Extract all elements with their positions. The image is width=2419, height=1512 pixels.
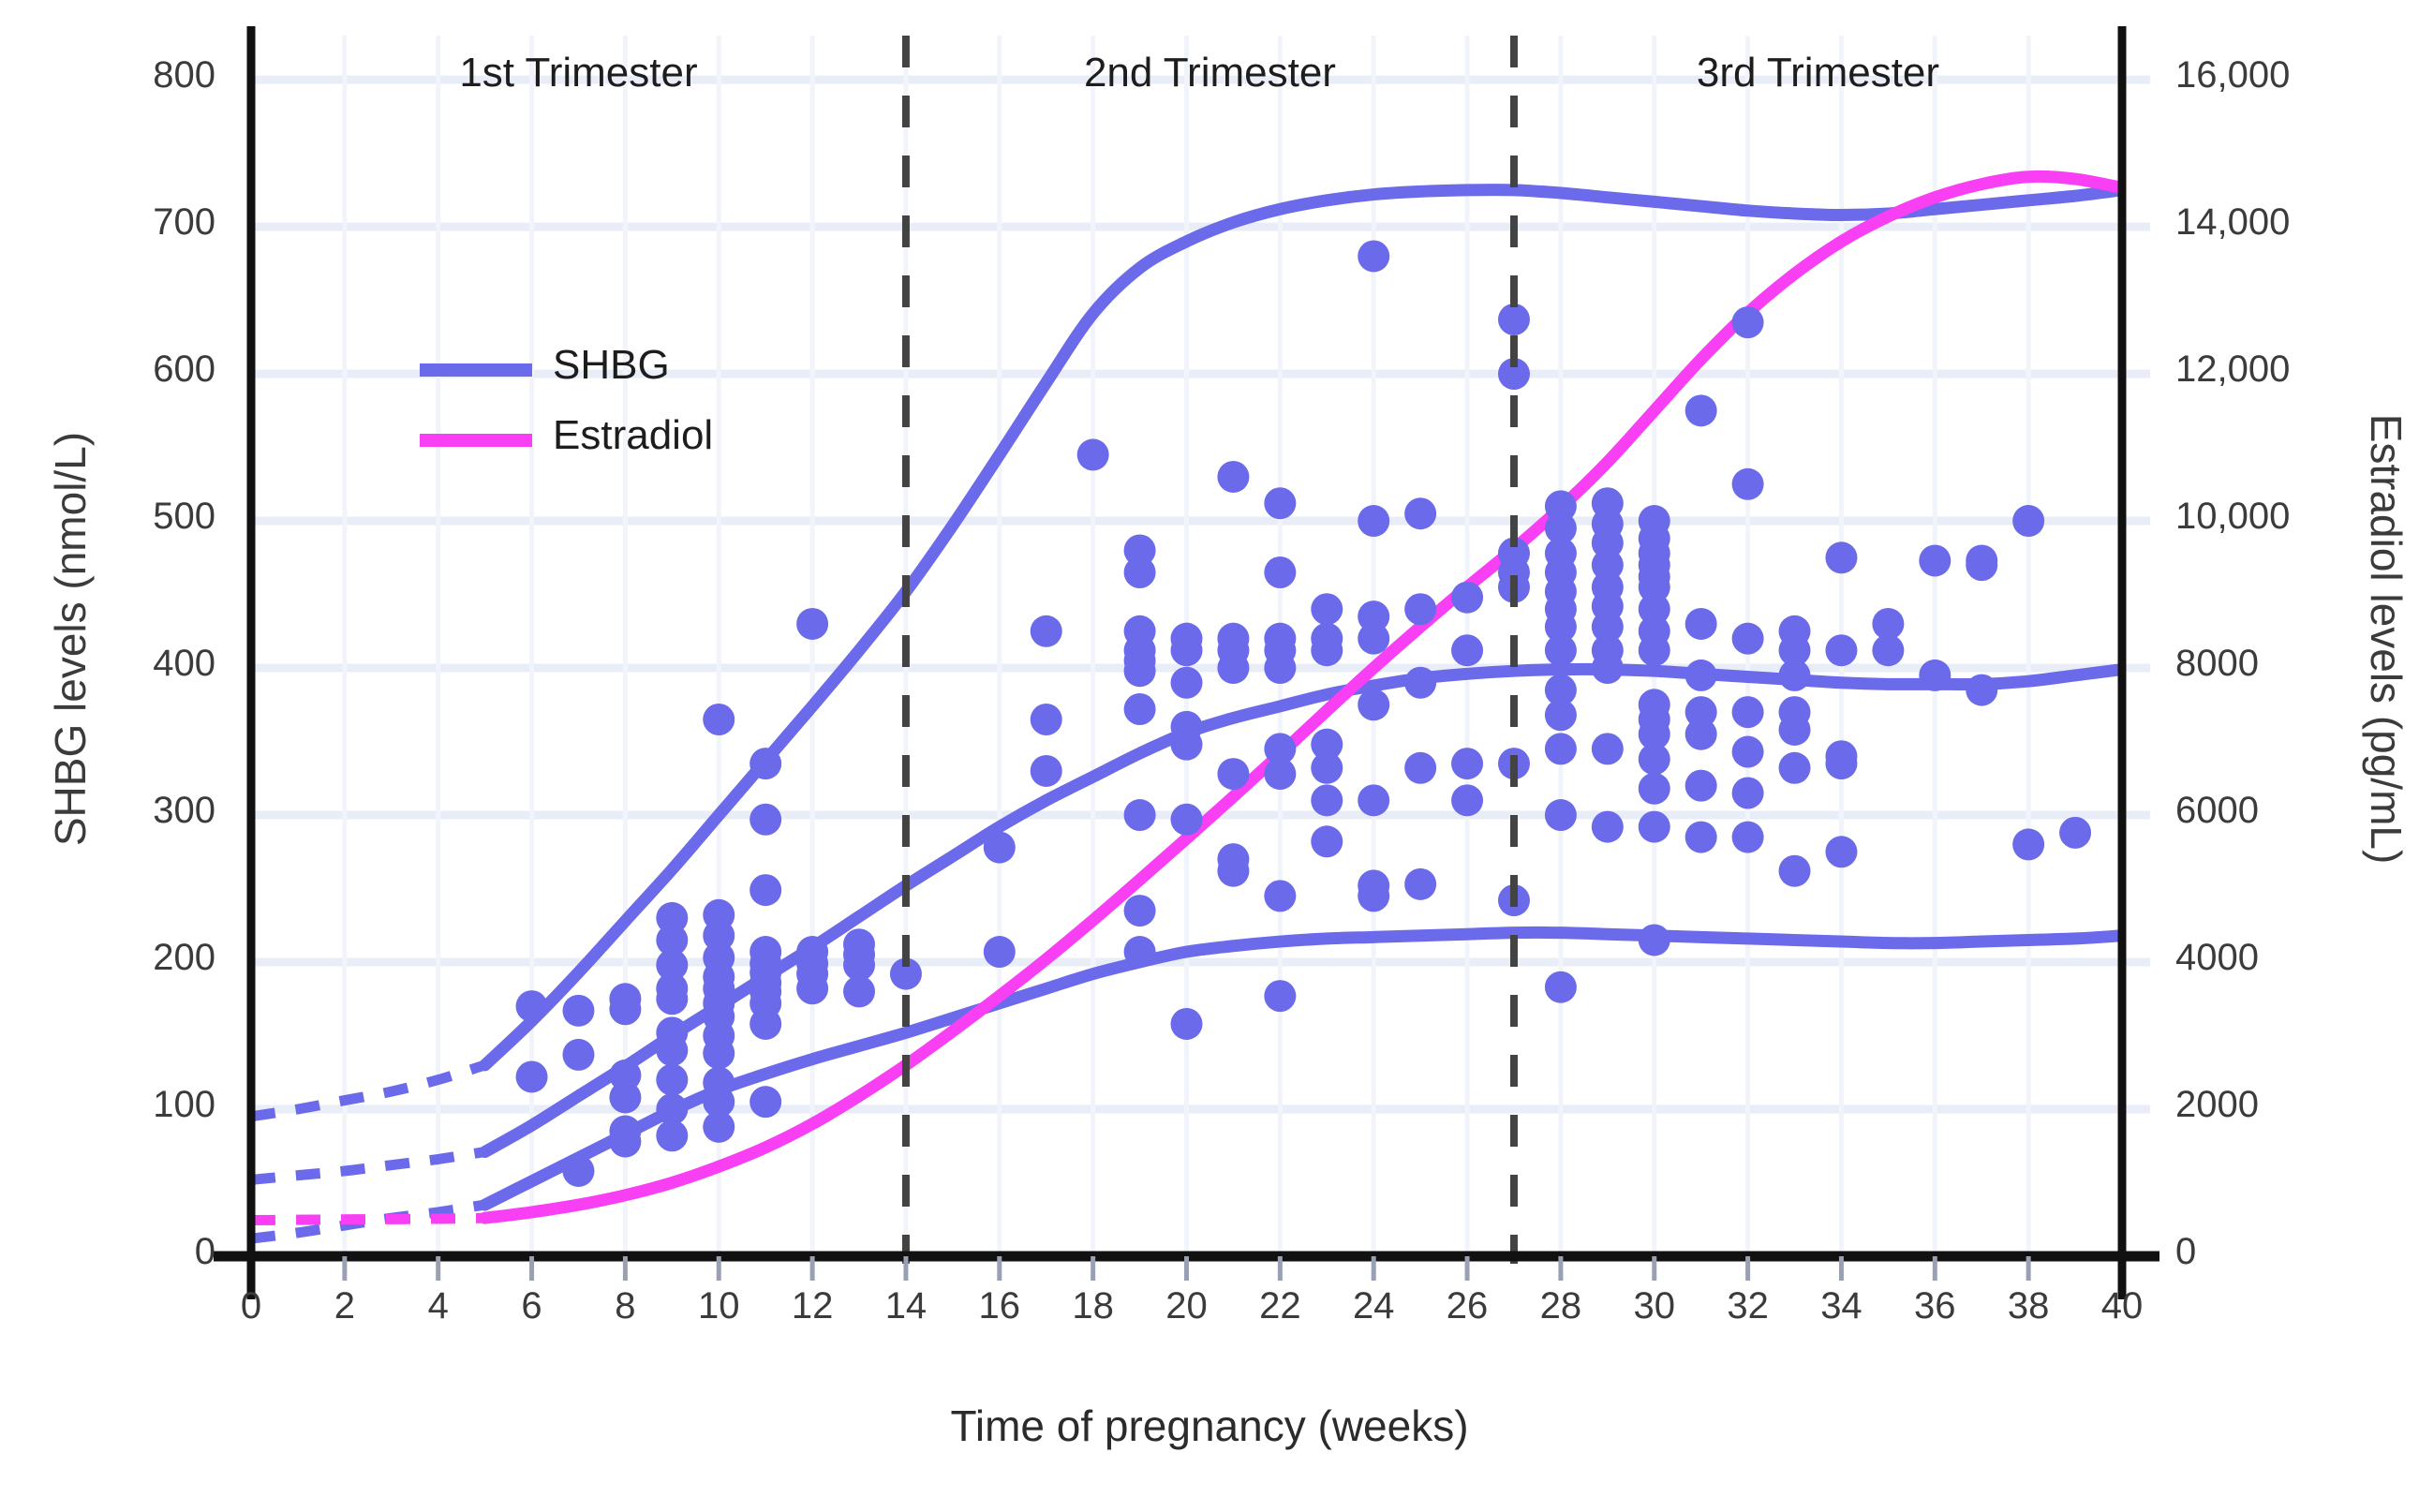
scatter-point <box>1217 758 1249 790</box>
scatter-point <box>1311 825 1343 857</box>
scatter-point <box>1264 652 1296 684</box>
scatter-point <box>1358 623 1389 655</box>
scatter-point <box>1825 541 1857 573</box>
scatter-points <box>516 240 2092 1186</box>
trimester-label-3: 3rd Trimester <box>1602 50 2033 96</box>
scatter-point <box>1545 699 1577 731</box>
series-line-dashed-1 <box>251 1152 485 1180</box>
scatter-point <box>609 1081 641 1113</box>
scatter-point <box>984 936 1016 968</box>
scatter-point <box>1919 660 1951 691</box>
scatter-point <box>656 1064 688 1096</box>
scatter-point <box>1498 304 1530 335</box>
y-tick-label-left-5: 500 <box>56 496 215 538</box>
scatter-point <box>1545 799 1577 831</box>
scatter-point <box>1732 696 1764 728</box>
y-tick-label-right-8: 16,000 <box>2175 54 2391 96</box>
scatter-point <box>1732 777 1764 808</box>
legend-label-estradiol: Estradiol <box>553 412 713 459</box>
scatter-point <box>1311 784 1343 816</box>
scatter-point <box>703 1111 735 1143</box>
scatter-point <box>1358 689 1389 720</box>
scatter-point <box>1639 773 1670 805</box>
scatter-point <box>656 1034 688 1066</box>
scatter-point <box>1124 655 1156 687</box>
scatter-point <box>1592 733 1624 764</box>
scatter-point <box>1779 660 1811 691</box>
series-line-dashed-3 <box>251 1218 485 1220</box>
y-axis-right-title: Estradiol levels (pg/mL) <box>2361 330 2412 948</box>
scatter-point <box>1592 811 1624 843</box>
scatter-point <box>1451 784 1483 816</box>
scatter-point <box>1358 880 1389 912</box>
y-tick-label-right-5: 10,000 <box>2175 496 2391 538</box>
scatter-point <box>1779 855 1811 887</box>
scatter-point <box>1264 556 1296 588</box>
scatter-point <box>2012 828 2044 860</box>
y-tick-label-right-3: 6000 <box>2175 790 2391 832</box>
scatter-point <box>749 874 781 906</box>
x-tick-label-20: 40 <box>2066 1285 2178 1327</box>
y-tick-label-left-1: 100 <box>56 1084 215 1126</box>
scatter-point <box>516 990 548 1022</box>
scatter-point <box>1311 634 1343 666</box>
scatter-point <box>843 975 875 1007</box>
scatter-point <box>1217 461 1249 493</box>
scatter-point <box>1358 784 1389 816</box>
scatter-point <box>749 1008 781 1040</box>
y-tick-label-right-7: 14,000 <box>2175 201 2391 244</box>
scatter-point <box>1264 980 1296 1012</box>
scatter-point <box>1919 544 1951 576</box>
y-tick-label-right-2: 4000 <box>2175 937 2391 979</box>
scatter-point <box>1451 634 1483 666</box>
scatter-point <box>1825 836 1857 867</box>
scatter-point <box>1217 855 1249 887</box>
scatter-point <box>1685 822 1717 853</box>
scatter-point <box>562 995 594 1027</box>
scatter-point <box>2059 817 2091 849</box>
scatter-point <box>984 832 1016 864</box>
y-tick-label-right-6: 12,000 <box>2175 348 2391 391</box>
scatter-point <box>1124 556 1156 588</box>
y-tick-label-left-3: 300 <box>56 790 215 832</box>
scatter-point <box>1451 582 1483 614</box>
scatter-point <box>1217 652 1249 684</box>
scatter-point <box>1685 394 1717 426</box>
scatter-point <box>1124 895 1156 926</box>
y-tick-label-left-0: 0 <box>56 1231 215 1273</box>
scatter-point <box>1966 549 1997 581</box>
scatter-point <box>796 972 828 1004</box>
scatter-point <box>1732 468 1764 500</box>
scatter-point <box>1171 634 1203 666</box>
scatter-point <box>1545 634 1577 666</box>
scatter-point <box>1031 704 1062 735</box>
y-tick-label-right-4: 8000 <box>2175 643 2391 685</box>
scatter-point <box>1358 505 1389 537</box>
scatter-point <box>1124 936 1156 968</box>
scatter-point <box>1404 497 1436 529</box>
scatter-point <box>1171 804 1203 836</box>
scatter-point <box>1264 880 1296 912</box>
scatter-point <box>1264 758 1296 790</box>
scatter-point <box>1732 306 1764 338</box>
scatter-point <box>1404 593 1436 625</box>
scatter-point <box>656 983 688 1015</box>
scatter-point <box>609 993 641 1025</box>
y-tick-label-left-8: 800 <box>56 54 215 96</box>
scatter-point <box>562 1039 594 1071</box>
scatter-point <box>1124 693 1156 725</box>
scatter-point <box>609 1126 641 1158</box>
scatter-point <box>1404 667 1436 699</box>
chart-figure: SHBG levels (nmol/L) Estradiol levels (p… <box>0 0 2419 1512</box>
y-tick-label-left-7: 700 <box>56 201 215 244</box>
scatter-point <box>1264 487 1296 519</box>
trimester-label-1: 1st Trimester <box>363 50 794 96</box>
scatter-point <box>1685 719 1717 750</box>
scatter-point <box>1685 660 1717 691</box>
scatter-point <box>703 1037 735 1069</box>
scatter-point <box>1171 667 1203 699</box>
scatter-point <box>1545 971 1577 1003</box>
y-axis-left-title: SHBG levels (nmol/L) <box>45 330 96 948</box>
scatter-point <box>1732 623 1764 655</box>
scatter-point <box>1872 634 1904 666</box>
scatter-point <box>1685 608 1717 640</box>
scatter-point <box>1358 240 1389 272</box>
scatter-point <box>1031 615 1062 647</box>
y-tick-label-left-6: 600 <box>56 348 215 391</box>
scatter-point <box>749 1086 781 1118</box>
y-tick-label-left-2: 200 <box>56 937 215 979</box>
scatter-point <box>1592 652 1624 684</box>
scatter-point <box>1404 868 1436 900</box>
scatter-point <box>1124 799 1156 831</box>
legend-label-shbg: SHBG <box>553 342 670 389</box>
scatter-point <box>1404 752 1436 784</box>
scatter-point <box>749 748 781 779</box>
scatter-point <box>1639 743 1670 775</box>
scatter-point <box>1966 674 1997 706</box>
scatter-point <box>1639 924 1670 956</box>
scatter-point <box>1171 1008 1203 1040</box>
scatter-point <box>1171 729 1203 761</box>
scatter-point <box>749 804 781 836</box>
scatter-point <box>562 1155 594 1187</box>
y-tick-label-right-0: 0 <box>2175 1231 2391 1273</box>
scatter-point <box>1545 733 1577 764</box>
scatter-point <box>1732 822 1764 853</box>
scatter-point <box>703 704 735 735</box>
scatter-point <box>1685 770 1717 802</box>
scatter-point <box>516 1060 548 1092</box>
trimester-label-2: 2nd Trimester <box>994 50 1425 96</box>
scatter-point <box>1825 634 1857 666</box>
scatter-point <box>1311 752 1343 784</box>
scatter-point <box>2012 505 2044 537</box>
scatter-point <box>1077 438 1109 470</box>
scatter-point <box>1639 811 1670 843</box>
scatter-point <box>1451 748 1483 779</box>
scatter-point <box>1779 752 1811 784</box>
scatter-point <box>1732 736 1764 768</box>
scatter-point <box>1639 634 1670 666</box>
scatter-point <box>1825 748 1857 779</box>
scatter-point <box>656 1119 688 1151</box>
scatter-point <box>1779 714 1811 746</box>
scatter-point <box>1031 755 1062 787</box>
y-tick-label-left-4: 400 <box>56 643 215 685</box>
x-axis-title: Time of pregnancy (weeks) <box>0 1401 2419 1451</box>
scatter-point <box>1311 593 1343 625</box>
scatter-point <box>796 608 828 640</box>
y-tick-label-right-1: 2000 <box>2175 1084 2391 1126</box>
